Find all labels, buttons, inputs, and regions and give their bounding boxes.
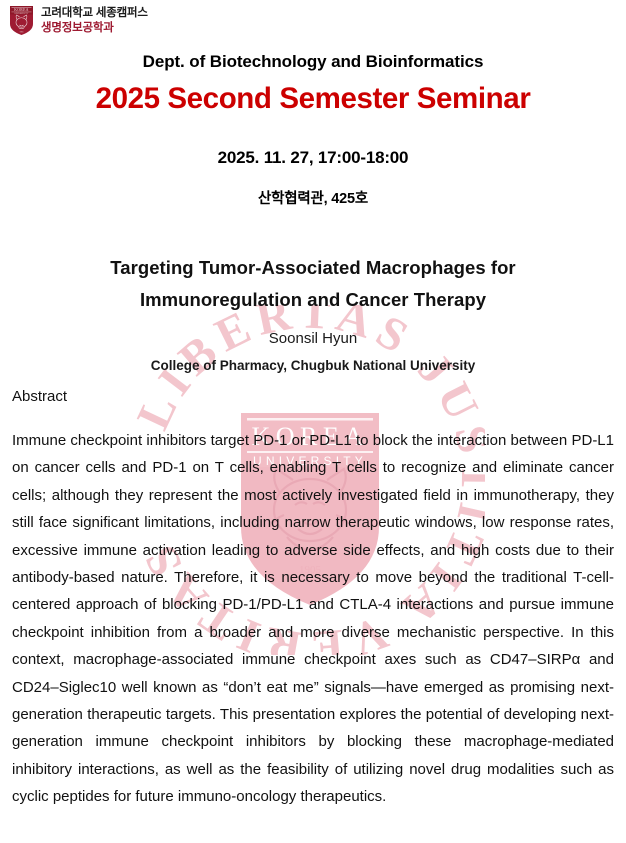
abstract-text: Immune checkpoint inhibitors target PD-1… <box>12 427 614 811</box>
svg-text:KOREA: KOREA <box>14 8 28 12</box>
page-title: 2025 Second Semester Seminar <box>0 82 626 116</box>
seminar-venue: 산학협력관, 425호 <box>0 187 626 208</box>
department-name: Dept. of Biotechnology and Bioinformatic… <box>0 52 626 72</box>
korea-university-crest-icon: KOREA UNIVERSITY 1905 <box>9 5 34 36</box>
abstract-label: Abstract <box>12 388 67 405</box>
speaker-affiliation: College of Pharmacy, Chugbuk National Un… <box>0 358 626 373</box>
letterhead-line-1: 고려대학교 세종캠퍼스 <box>41 6 148 20</box>
seminar-datetime: 2025. 11. 27, 17:00-18:00 <box>0 148 626 168</box>
seminar-title: Targeting Tumor-Associated Macrophages f… <box>60 252 566 316</box>
letterhead-line-2: 생명정보공학과 <box>41 21 148 35</box>
svg-text:1905: 1905 <box>20 32 24 34</box>
speaker-name: Soonsil Hyun <box>0 330 626 347</box>
letterhead: KOREA UNIVERSITY 1905 고려대학교 세종캠퍼스 생명정보공학… <box>9 5 148 36</box>
svg-text:UNIVERSITY: UNIVERSITY <box>14 13 28 15</box>
seminar-poster: KOREA UNIVERSITY 1905 고려대학교 세종캠퍼스 생명정보공학… <box>0 0 626 843</box>
